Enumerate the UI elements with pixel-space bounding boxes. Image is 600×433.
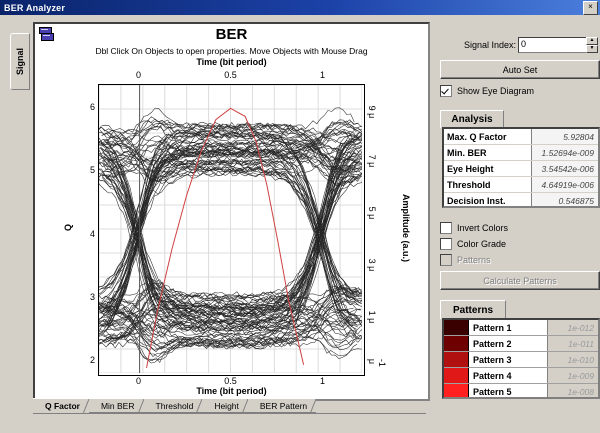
checkbox-icon[interactable]: [440, 238, 452, 250]
auto-set-button[interactable]: Auto Set: [440, 60, 600, 79]
calculate-patterns-button: Calculate Patterns: [440, 271, 600, 290]
tab-separator-icon: [309, 399, 317, 414]
checkbox-icon: [440, 254, 452, 266]
tabstrip-divider: [33, 413, 426, 414]
chart-tab-min-ber[interactable]: Min BER: [89, 398, 144, 413]
tick-label: 1: [320, 70, 325, 80]
patterns-tab-label: Patterns: [453, 305, 493, 316]
analysis-table: Max. Q Factor5.92804Min. BER1.52694e-009…: [442, 127, 600, 208]
checkbox-icon[interactable]: [440, 222, 452, 234]
analysis-row-value: 0.546875: [532, 193, 598, 208]
chart-right-axis-label: Amplitude (a.u.): [401, 194, 411, 262]
pattern-row-value: 1e-008: [548, 384, 598, 399]
chart-tabstrip: Q FactorMin BERThresholdHeightBER Patter…: [33, 398, 426, 415]
pattern-row-name: Pattern 2: [469, 336, 548, 351]
tick-label: 0: [136, 376, 141, 386]
patterns-checkbox: Patterns: [440, 254, 491, 266]
sidebar-tab-signal[interactable]: Signal: [10, 33, 30, 90]
checkbox-icon[interactable]: [440, 85, 452, 97]
pattern-row[interactable]: Pattern 41e-009: [444, 368, 598, 384]
tick-label: 1: [320, 376, 325, 386]
sidebar-tab-signal-label: Signal: [15, 48, 25, 75]
analysis-row-value: 3.54542e-006: [532, 161, 598, 176]
tick-label: 5 μ: [367, 207, 377, 220]
eye-diagram-plot[interactable]: [98, 84, 365, 376]
pattern-color-swatch: [444, 384, 469, 399]
analysis-group-tab[interactable]: Analysis: [440, 110, 504, 128]
chart-tab-label: Height: [214, 401, 239, 411]
tick-label: 7 μ: [367, 154, 377, 167]
tick-label: 2: [90, 355, 95, 365]
color-grade-checkbox[interactable]: Color Grade: [440, 238, 506, 250]
window-body: Signal BER Dbl Click On Objects to open …: [0, 15, 600, 433]
tick-label: 3 μ: [367, 259, 377, 272]
signal-index-row: Signal Index: 0 ▲ ▼: [432, 36, 598, 53]
pattern-row[interactable]: Pattern 31e-010: [444, 352, 598, 368]
show-eye-diagram-label: Show Eye Diagram: [457, 86, 534, 96]
pattern-row-name: Pattern 5: [469, 384, 548, 399]
analysis-row-name: Min. BER: [444, 145, 532, 160]
pattern-row-value: 1e-009: [548, 368, 598, 383]
chart-panel[interactable]: BER Dbl Click On Objects to open propert…: [33, 22, 430, 401]
tick-label: 1 μ: [367, 311, 377, 324]
signal-index-stepper[interactable]: 0 ▲ ▼: [518, 37, 598, 53]
chart-tab-label: Q Factor: [45, 401, 80, 411]
chart-y-axis-label: Q: [63, 224, 73, 231]
pattern-row-value: 1e-011: [548, 336, 598, 351]
tick-label: 0.5: [224, 70, 237, 80]
chart-hint-text: Dbl Click On Objects to open properties.…: [35, 46, 428, 56]
pattern-color-swatch: [444, 352, 469, 367]
signal-index-spin-buttons[interactable]: ▲ ▼: [586, 37, 598, 53]
color-grade-label: Color Grade: [457, 239, 506, 249]
analysis-row-value: 5.92804: [532, 129, 598, 144]
tick-label: 9 μ: [367, 105, 377, 118]
analysis-row: Threshold4.64919e-006: [444, 177, 598, 193]
pattern-row-name: Pattern 3: [469, 352, 548, 367]
analysis-row-name: Eye Height: [444, 161, 532, 176]
window-titlebar: BER Analyzer ×: [0, 0, 600, 15]
control-panel: Signal Index: 0 ▲ ▼ Auto Set Show Eye Di…: [432, 22, 598, 397]
invert-colors-checkbox[interactable]: Invert Colors: [440, 222, 508, 234]
pattern-row-value: 1e-012: [548, 320, 598, 335]
analysis-row: Max. Q Factor5.92804: [444, 129, 598, 145]
chart-tab-label: BER Pattern: [260, 401, 307, 411]
analysis-row-name: Max. Q Factor: [444, 129, 532, 144]
chart-top-axis-label: Time (bit period): [35, 57, 428, 67]
analysis-row: Eye Height3.54542e-006: [444, 161, 598, 177]
analysis-row: Min. BER1.52694e-009: [444, 145, 598, 161]
tick-label: 6: [90, 102, 95, 112]
tick-label: 0.5: [224, 376, 237, 386]
analysis-row-name: Decision Inst.: [444, 193, 532, 208]
signal-index-label: Signal Index:: [464, 40, 516, 50]
chart-tab-ber-pattern[interactable]: BER Pattern: [248, 398, 316, 413]
analysis-tab-label: Analysis: [451, 114, 492, 125]
analysis-row-value: 4.64919e-006: [532, 177, 598, 192]
pattern-row[interactable]: Pattern 51e-008: [444, 384, 598, 399]
chart-left-ticklabels: 6 5 4 3 2: [75, 84, 97, 374]
pattern-color-swatch: [444, 320, 469, 335]
close-icon[interactable]: ×: [583, 1, 598, 15]
analysis-row: Decision Inst.0.546875: [444, 193, 598, 208]
analysis-row-name: Threshold: [444, 177, 532, 192]
patterns-group-tab[interactable]: Patterns: [440, 300, 506, 319]
chart-right-ticklabels: 9 μ 7 μ 5 μ 3 μ 1 μ -1 μ: [365, 84, 399, 374]
pattern-color-swatch: [444, 368, 469, 383]
chart-tab-label: Threshold: [156, 401, 194, 411]
pattern-row[interactable]: Pattern 11e-012: [444, 320, 598, 336]
pattern-row[interactable]: Pattern 21e-011: [444, 336, 598, 352]
analysis-tab-filler: [502, 110, 598, 128]
invert-colors-label: Invert Colors: [457, 223, 508, 233]
patterns-checkbox-label: Patterns: [457, 255, 491, 265]
analysis-row-value: 1.52694e-009: [532, 145, 598, 160]
chart-tab-label: Min BER: [101, 401, 135, 411]
chart-tab-height[interactable]: Height: [202, 398, 248, 413]
pattern-row-name: Pattern 1: [469, 320, 548, 335]
show-eye-diagram-checkbox[interactable]: Show Eye Diagram: [440, 85, 534, 97]
pattern-color-swatch: [444, 336, 469, 351]
pattern-row-name: Pattern 4: [469, 368, 548, 383]
patterns-tab-filler: [504, 301, 598, 319]
ber-analyzer-window: BER Analyzer × Signal BER Dbl Click On O…: [0, 0, 600, 433]
chart-top-ticklabels: 0 0.5 1: [98, 70, 363, 82]
tick-label: 3: [90, 292, 95, 302]
patterns-table: Pattern 11e-012Pattern 21e-011Pattern 31…: [442, 318, 600, 399]
spinner-up-icon[interactable]: ▲: [586, 37, 598, 45]
eye-diagram-svg: [99, 85, 362, 373]
window-title: BER Analyzer: [0, 3, 65, 13]
chart-x-axis-label: Time (bit period): [35, 386, 428, 396]
chart-title: BER: [35, 26, 428, 43]
chart-tab-q-factor[interactable]: Q Factor: [33, 398, 89, 413]
chart-tab-threshold[interactable]: Threshold: [144, 398, 203, 413]
tick-label: -1 μ: [367, 359, 387, 369]
pattern-row-value: 1e-010: [548, 352, 598, 367]
tick-label: 4: [90, 229, 95, 239]
tick-label: 0: [136, 70, 141, 80]
tick-label: 5: [90, 165, 95, 175]
spinner-down-icon[interactable]: ▼: [586, 45, 598, 53]
signal-index-input[interactable]: 0: [518, 37, 586, 53]
